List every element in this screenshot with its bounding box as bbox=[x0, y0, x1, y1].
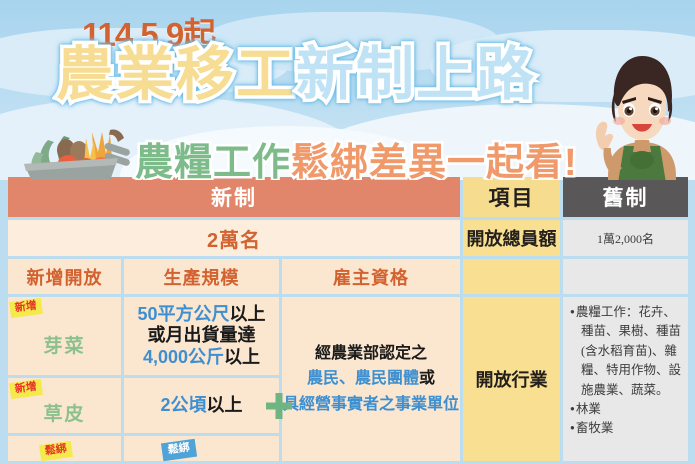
crop-rows-container: 新增 芽菜 50平方公尺以上 或月出貨量達 4,000公斤以上 新增 草皮 bbox=[8, 297, 279, 461]
employer-line2-blue: 農民、農民團體 bbox=[307, 370, 419, 387]
industry-old-cell: 農糧工作：花卉、種苗、果樹、種苗(含水稻育苗)、雜糧、特用作物、設施農業、蔬菜。… bbox=[563, 297, 688, 461]
employer-qualification-text: 經農業部認定之 農民、農民團體或 具經營事實者之事業單位 bbox=[283, 341, 459, 418]
badge-loose: 鬆綁 bbox=[161, 439, 197, 461]
comparison-table: 新制 項目 舊制 2萬名 開放總員額 1萬2,000名 新增開放 生產規模 雇主… bbox=[8, 177, 695, 464]
crop-row-bean-sprouts: 新增 芽菜 50平方公尺以上 或月出貨量達 4,000公斤以上 bbox=[8, 297, 279, 375]
subheader-production-scale: 生產規模 bbox=[164, 264, 240, 290]
production-scale-cell: 50平方公尺以上 或月出貨量達 4,000公斤以上 bbox=[124, 297, 279, 375]
quota-new-value: 2萬名 bbox=[207, 224, 261, 253]
employer-line3-blue: 具經營事實者之事業單位 bbox=[283, 392, 459, 418]
employer-line1: 經農業部認定之 bbox=[283, 341, 459, 367]
scale-l3-black: 以上 bbox=[224, 347, 260, 367]
hero-banner: 114.5.9起 農業移工新制上路 農糧工作鬆綁差異一起看! bbox=[0, 0, 695, 180]
scale-l1-blue: 2公頃 bbox=[160, 395, 206, 415]
crop-row-turf: 新增 草皮 2公頃以上 bbox=[8, 378, 279, 433]
green-plus-icon bbox=[265, 392, 293, 420]
scale-l1-blue: 50平方公尺 bbox=[137, 304, 229, 324]
employer-qualification-cell: 經農業部認定之 農民、農民團體或 具經營事實者之事業單位 bbox=[282, 297, 460, 461]
quota-item-label: 開放總員額 bbox=[467, 225, 557, 251]
page-subtitle-green: 農糧工作 bbox=[135, 142, 291, 180]
scale-l2-black: 或月出貨量達 bbox=[148, 325, 256, 345]
industry-item-label: 開放行業 bbox=[476, 366, 548, 392]
subheader-employer-qualification: 雇主資格 bbox=[333, 264, 409, 290]
page-subtitle-orange: 鬆綁差異一起看! bbox=[291, 142, 578, 180]
badge-new: 鬆綁 bbox=[39, 441, 73, 461]
scale-l3-blue: 4,000公斤 bbox=[143, 347, 224, 367]
crop-name: 芽菜 bbox=[43, 331, 85, 358]
badge-new: 新增 bbox=[9, 298, 43, 318]
employer-line2-black: 或 bbox=[419, 370, 435, 387]
list-item: 農糧工作：花卉、種苗、果樹、種苗(含水稻育苗)、雜糧、特用作物、設施農業、蔬菜。 bbox=[570, 303, 683, 400]
quota-old-value: 1萬2,000名 bbox=[597, 230, 654, 247]
list-item: 林業 bbox=[570, 400, 683, 419]
page-title-part1: 農業移工 bbox=[56, 42, 296, 107]
crop-row-partial: 鬆綁 鬆綁 bbox=[8, 436, 279, 461]
production-scale-cell: 鬆綁 bbox=[124, 436, 279, 461]
subheader-newly-opened: 新增開放 bbox=[27, 264, 103, 290]
quota-new-cell: 2萬名 bbox=[8, 220, 460, 256]
table-row: 2萬名 開放總員額 1萬2,000名 bbox=[8, 220, 695, 256]
crop-name-cell: 新增 芽菜 bbox=[8, 297, 121, 375]
subheader-newly-opened-cell: 新增開放 bbox=[8, 259, 121, 294]
list-item: 畜牧業 bbox=[570, 419, 683, 438]
production-scale-text: 2公頃以上 bbox=[160, 395, 242, 416]
table-header-row: 新制 項目 舊制 bbox=[8, 177, 695, 217]
production-scale-cell: 2公頃以上 bbox=[124, 378, 279, 433]
page-subtitle: 農糧工作鬆綁差異一起看! bbox=[135, 131, 578, 180]
industry-old-cell-top bbox=[563, 259, 688, 294]
scale-l1-black: 以上 bbox=[230, 304, 266, 324]
production-scale-text: 50平方公尺以上 或月出貨量達 4,000公斤以上 bbox=[137, 304, 265, 368]
crop-name-cell: 鬆綁 bbox=[8, 436, 121, 461]
crop-name-cell: 新增 草皮 bbox=[8, 378, 121, 433]
industry-item-cell: 開放行業 bbox=[463, 297, 560, 461]
farmer-character-icon bbox=[588, 48, 695, 180]
quota-item-cell: 開放總員額 bbox=[463, 220, 560, 256]
header-new-system: 新制 bbox=[8, 177, 460, 217]
table-body-row: 新增 芽菜 50平方公尺以上 或月出貨量達 4,000公斤以上 新增 草皮 bbox=[8, 297, 695, 461]
page-title: 農業移工新制上路 bbox=[56, 46, 536, 104]
wheelbarrow-icon bbox=[6, 108, 141, 180]
subheader-production-scale-cell: 生產規模 bbox=[124, 259, 279, 294]
old-industry-list: 農糧工作：花卉、種苗、果樹、種苗(含水稻育苗)、雜糧、特用作物、設施農業、蔬菜。… bbox=[563, 297, 688, 439]
quota-old-cell: 1萬2,000名 bbox=[563, 220, 688, 256]
badge-new: 新增 bbox=[9, 379, 43, 399]
header-item: 項目 bbox=[463, 177, 560, 217]
industry-item-cell-top bbox=[463, 259, 560, 294]
page-title-part2: 新制上路 bbox=[296, 42, 536, 107]
header-old-system: 舊制 bbox=[563, 177, 688, 217]
table-subheader-row: 新增開放 生產規模 雇主資格 bbox=[8, 259, 695, 294]
crop-name: 草皮 bbox=[43, 399, 85, 426]
scale-l1-black: 以上 bbox=[207, 395, 243, 415]
subheader-employer-qualification-cell: 雇主資格 bbox=[282, 259, 460, 294]
